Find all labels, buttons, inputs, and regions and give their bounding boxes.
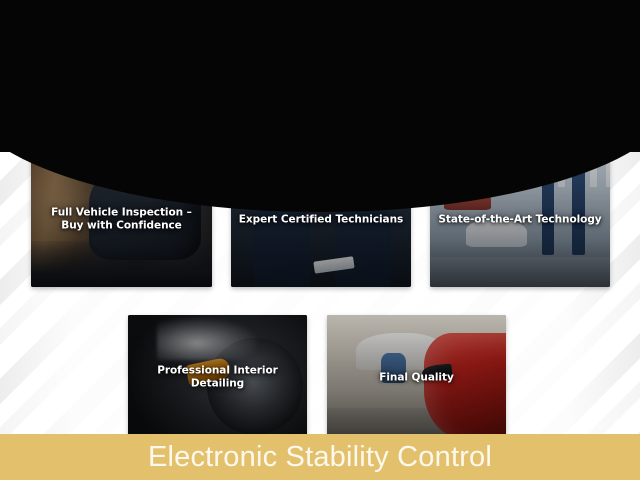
card-caption: State-of-the-Art Technology xyxy=(430,213,610,226)
card-caption-line-1: State-of-the-Art Technology xyxy=(436,213,604,226)
card-caption-line-2: Detailing xyxy=(134,378,301,391)
card-caption-line-1: Professional Interior xyxy=(134,364,301,377)
card-caption: Full Vehicle Inspection – Buy with Confi… xyxy=(31,206,212,233)
card-final-quality[interactable]: Final Quality xyxy=(327,315,506,440)
card-caption-line-1: Final Quality xyxy=(333,371,500,384)
card-caption-line-1: Full Vehicle Inspection – xyxy=(37,206,206,219)
card-caption: Professional Interior Detailing xyxy=(128,364,307,391)
card-professional-interior-detailing[interactable]: Professional Interior Detailing xyxy=(128,315,307,440)
footer-feature-label: Electronic Stability Control xyxy=(148,443,492,472)
card-caption: Expert Certified Technicians xyxy=(231,213,411,226)
card-caption-line-1: Expert Certified Technicians xyxy=(237,213,405,226)
footer-banner: Electronic Stability Control xyxy=(0,434,640,480)
promo-graphic: See what goes into every Pre-Owned Recon… xyxy=(0,0,640,480)
card-caption-line-2: Buy with Confidence xyxy=(37,220,206,233)
card-caption: Final Quality xyxy=(327,371,506,384)
header-banner xyxy=(0,0,640,152)
